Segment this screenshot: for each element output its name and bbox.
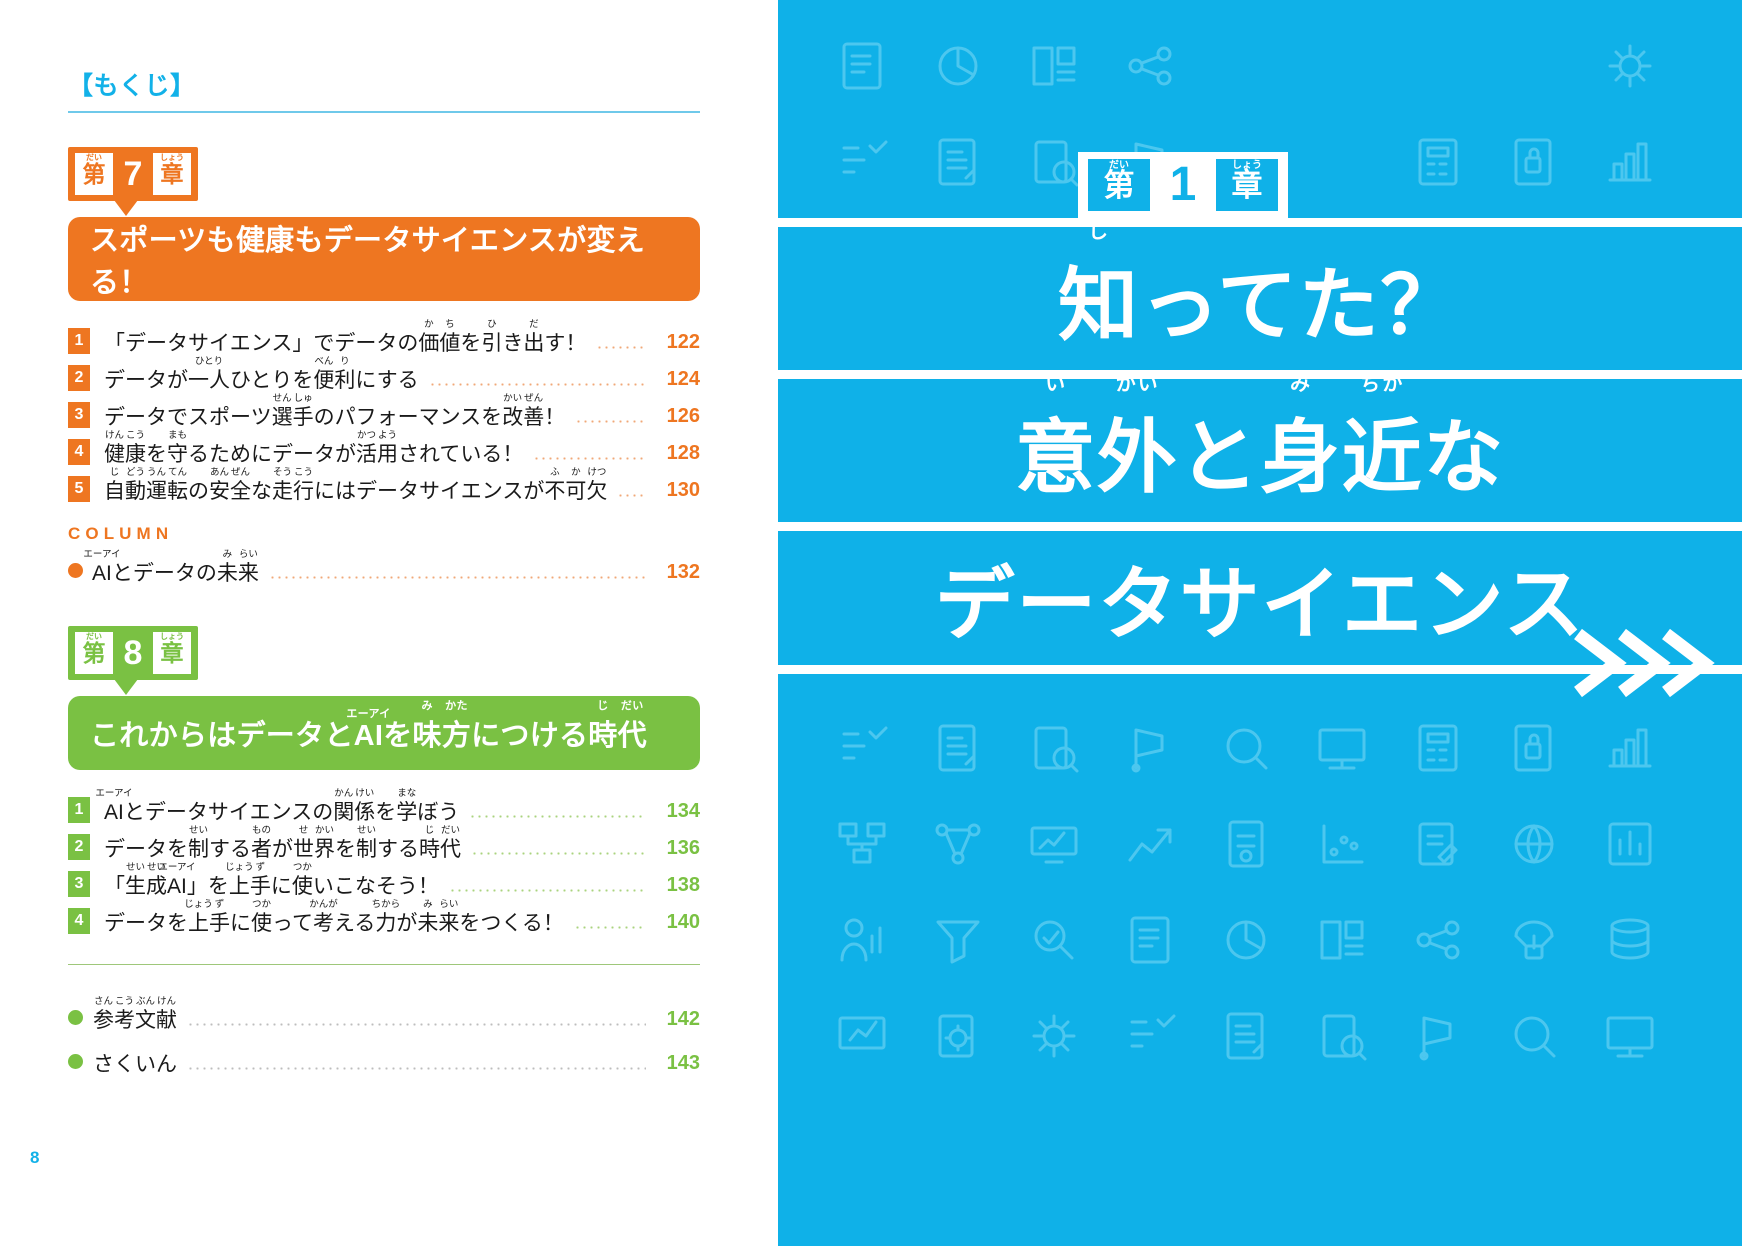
entry-number: 3 — [68, 871, 90, 897]
column-entry[interactable]: エーアイAIとデータのみ未らい来 132 — [68, 546, 700, 586]
decorative-icon — [910, 114, 1006, 210]
decorative-icon — [814, 892, 910, 988]
entry-label: データをじょう上ず手につか使ってかんが考えるちから力がみ未らい来をつくる！ — [104, 913, 564, 936]
toc-entry[interactable]: 4 けん健こう康をまも守るためにデータがかつ活よう用されている！ 128 — [68, 430, 700, 467]
entry-page-number: 128 — [654, 442, 700, 465]
chapter-suffix-cell: しょう 章 — [153, 153, 191, 195]
column-page-number: 132 — [654, 561, 700, 584]
back-matter-entry[interactable]: さくいん 143 — [68, 1033, 700, 1077]
back-matter-divider — [68, 964, 700, 965]
badge-pointer — [114, 200, 138, 216]
toc-entry[interactable]: 2 データがひとり一人ひとりをべん便り利にする 124 — [68, 356, 700, 393]
decorative-icon — [1294, 988, 1390, 1084]
chapter-opener-page: だい 第 1 しょう 章 し知ってた？ い意がい外とみ身ぢか近な データサイエン… — [778, 0, 1742, 1246]
toc-entry[interactable]: 1 エーアイAIとデータサイエンスのかん関けい係をまな学ぼう 134 — [68, 788, 700, 825]
entry-label: エーアイAIとデータサイエンスのかん関けい係をまな学ぼう — [104, 802, 459, 825]
chapter-number: 7 — [113, 153, 153, 195]
chapter-7-title: スポーツもけんこう健康もデータサイエンスがか変える！ — [68, 217, 700, 301]
chapter-suffix-text: 章 — [1232, 170, 1263, 201]
leader-dots — [596, 346, 646, 349]
decorative-icon — [1294, 700, 1390, 796]
chapter-suffix-cell: しょう 章 — [1216, 159, 1278, 211]
decorative-icon — [1582, 892, 1678, 988]
decorative-icon — [1102, 988, 1198, 1084]
chapter-7-badge: だい 第 7 しょう 章 — [68, 147, 198, 201]
chapter-prefix-cell: だい 第 — [75, 153, 113, 195]
chapter-8-badge-wrap: だい 第 8 しょう 章 — [68, 626, 218, 680]
entry-page-number: 130 — [654, 479, 700, 502]
bullet-icon — [68, 563, 83, 578]
entry-page-number: 122 — [654, 331, 700, 354]
leader-dots — [187, 1067, 646, 1070]
entry-label: さん参こう考ぶん文けん献 — [93, 1010, 177, 1033]
leader-dots — [574, 926, 646, 929]
chapter-title-line-1: し知ってた？ — [778, 218, 1742, 370]
chapter-number: 1 — [1150, 159, 1216, 211]
decorative-icon — [910, 700, 1006, 796]
decorative-icon — [1582, 796, 1678, 892]
decorative-icon — [910, 988, 1006, 1084]
decorative-icon — [1102, 700, 1198, 796]
chapter-suffix-text: 章 — [161, 163, 184, 186]
chevron-arrow-icon — [1570, 624, 1720, 702]
leader-dots — [617, 494, 646, 497]
chapter-prefix-text: 第 — [83, 642, 106, 665]
decorative-icon — [1582, 114, 1678, 210]
leader-dots — [471, 852, 646, 855]
leader-dots — [429, 383, 646, 386]
toc-entry[interactable]: 2 データをせい制するもの者がせ世かい界をせい制するじ時だい代 136 — [68, 825, 700, 862]
toc-entry[interactable]: 3 「せい生せい成エーアイAI」をじょう上ず手につか使いこなそう！ 138 — [68, 862, 700, 899]
decorative-icon — [1102, 892, 1198, 988]
entry-label: 「せい生せい成エーアイAI」をじょう上ず手につか使いこなそう！ — [104, 876, 439, 899]
opener-chapter-badge: だい 第 1 しょう 章 — [1078, 152, 1288, 218]
decorative-icon — [910, 18, 1006, 114]
decorative-icon — [814, 988, 910, 1084]
entry-page-number: 140 — [654, 911, 700, 934]
decorative-icon — [1486, 892, 1582, 988]
chapter-8-title: これからはデータとエーアイAIをみ味かた方につけるじ時だい代 — [68, 696, 700, 770]
toc-entry[interactable]: 5 じ自どう動うん運てん転のあん安ぜん全なそう走こう行にはデータサイエンスがふ不… — [68, 467, 700, 504]
entry-number: 3 — [68, 402, 90, 428]
entry-page-number: 136 — [654, 837, 700, 860]
chapter-suffix-ruby: しょう — [1216, 161, 1278, 171]
decorative-icon — [1006, 700, 1102, 796]
entry-number: 4 — [68, 439, 90, 465]
back-matter-entry[interactable]: さん参こう考ぶん文けん献 142 — [68, 989, 700, 1033]
toc-entry[interactable]: 1 「データサイエンス」でデータのか価ち値をひ引きだ出す！ 122 — [68, 319, 700, 356]
entry-page-number: 143 — [654, 1052, 700, 1075]
column-label: エーアイAIとデータのみ未らい来 — [92, 563, 259, 586]
decorative-icon — [1390, 892, 1486, 988]
decorative-icon — [814, 18, 910, 114]
chapter-suffix-cell: しょう 章 — [153, 632, 191, 674]
back-matter-list: さん参こう考ぶん文けん献 142 さくいん 143 — [68, 989, 700, 1077]
decorative-icon — [814, 114, 910, 210]
decorative-icon — [1102, 796, 1198, 892]
decorative-icon — [910, 892, 1006, 988]
decorative-icon — [1486, 988, 1582, 1084]
chapter-8-badge: だい 第 8 しょう 章 — [68, 626, 198, 680]
leader-dots — [469, 815, 646, 818]
chapter-7-badge-wrap: だい 第 7 しょう 章 — [68, 147, 218, 201]
decorative-icon — [1198, 700, 1294, 796]
badge-pointer — [114, 679, 138, 695]
decorative-icon — [1390, 114, 1486, 210]
entry-number: 2 — [68, 834, 90, 860]
entry-label: データでスポーツせん選しゅ手のパフォーマンスをかい改ぜん善！ — [104, 407, 565, 430]
entry-label: さくいん — [93, 1054, 177, 1077]
leader-dots — [533, 457, 646, 460]
decorative-icon — [1006, 796, 1102, 892]
bullet-icon — [68, 1054, 83, 1069]
decorative-icon — [1294, 796, 1390, 892]
chapter-prefix-ruby: だい — [1088, 161, 1150, 171]
decorative-icon — [1390, 796, 1486, 892]
toc-entry[interactable]: 3 データでスポーツせん選しゅ手のパフォーマンスをかい改ぜん善！ 126 — [68, 393, 700, 430]
decorative-icon — [1006, 18, 1102, 114]
entry-label: データがひとり一人ひとりをべん便り利にする — [104, 370, 419, 393]
leader-dots — [269, 576, 646, 579]
chapter-suffix-text: 章 — [161, 642, 184, 665]
decorative-icon — [1390, 700, 1486, 796]
page-title: 【もくじ】 — [68, 74, 700, 99]
entry-number: 1 — [68, 328, 90, 354]
folio-page-number: 8 — [30, 1148, 39, 1168]
chapter-suffix-ruby: しょう — [153, 154, 191, 162]
column-heading: COLUMN — [68, 524, 700, 544]
decorative-icon — [814, 700, 910, 796]
decorative-icon — [1198, 988, 1294, 1084]
decorative-icon — [1198, 892, 1294, 988]
decorative-icon — [1102, 18, 1198, 114]
decorative-icon — [814, 796, 910, 892]
decorative-icon — [1582, 700, 1678, 796]
chapter-8-entry-list: 1 エーアイAIとデータサイエンスのかん関けい係をまな学ぼう 134 2 データ… — [68, 788, 700, 936]
decorative-icon — [1198, 796, 1294, 892]
decorative-icon — [1006, 892, 1102, 988]
decorative-icon — [1294, 892, 1390, 988]
decorative-icon — [1582, 18, 1678, 114]
decorative-icon — [1390, 988, 1486, 1084]
entry-page-number: 138 — [654, 874, 700, 897]
leader-dots — [449, 889, 646, 892]
chapter-prefix-ruby: だい — [75, 633, 113, 641]
decorative-icon — [1582, 988, 1678, 1084]
bullet-icon — [68, 1010, 83, 1025]
toc-entry[interactable]: 4 データをじょう上ず手につか使ってかんが考えるちから力がみ未らい来をつくる！ … — [68, 899, 700, 936]
leader-dots — [575, 420, 646, 423]
entry-label: 「データサイエンス」でデータのか価ち値をひ引きだ出す！ — [104, 333, 586, 356]
entry-page-number: 142 — [654, 1008, 700, 1031]
chapter-prefix-text: 第 — [1104, 170, 1135, 201]
entry-page-number: 124 — [654, 368, 700, 391]
chapter-prefix-ruby: だい — [75, 154, 113, 162]
entry-page-number: 134 — [654, 800, 700, 823]
entry-page-number: 126 — [654, 405, 700, 428]
entry-label: データをせい制するもの者がせ世かい界をせい制するじ時だい代 — [104, 839, 461, 862]
toc-page: 【もくじ】 だい 第 7 しょう 章 スポーツも — [0, 0, 778, 1246]
leader-dots — [187, 1023, 646, 1026]
book-spread: 【もくじ】 だい 第 7 しょう 章 スポーツも — [0, 0, 1742, 1246]
decorative-icon — [1486, 114, 1582, 210]
title-divider — [68, 111, 700, 113]
entry-number: 1 — [68, 797, 90, 823]
icon-pattern-bottom — [814, 700, 1678, 1084]
entry-number: 2 — [68, 365, 90, 391]
toc-content: 【もくじ】 だい 第 7 しょう 章 スポーツも — [68, 74, 700, 1077]
decorative-icon — [1486, 796, 1582, 892]
chapter-number: 8 — [113, 632, 153, 674]
chapter-prefix-cell: だい 第 — [1088, 159, 1150, 211]
entry-number: 5 — [68, 476, 90, 502]
chapter-prefix-cell: だい 第 — [75, 632, 113, 674]
chapter-prefix-text: 第 — [83, 163, 106, 186]
entry-label: けん健こう康をまも守るためにデータがかつ活よう用されている！ — [104, 444, 523, 467]
entry-number: 4 — [68, 908, 90, 934]
decorative-icon — [1486, 700, 1582, 796]
decorative-icon — [1006, 988, 1102, 1084]
chapter-title-line-2: い意がい外とみ身ぢか近な — [778, 370, 1742, 522]
entry-label: じ自どう動うん運てん転のあん安ぜん全なそう走こう行にはデータサイエンスがふ不か可… — [104, 481, 607, 504]
chapter-title-block: し知ってた？ い意がい外とみ身ぢか近な データサイエンス — [778, 218, 1742, 674]
chapter-suffix-ruby: しょう — [153, 633, 191, 641]
decorative-icon — [910, 796, 1006, 892]
chapter-7-entry-list: 1 「データサイエンス」でデータのか価ち値をひ引きだ出す！ 122 2 データが… — [68, 319, 700, 504]
